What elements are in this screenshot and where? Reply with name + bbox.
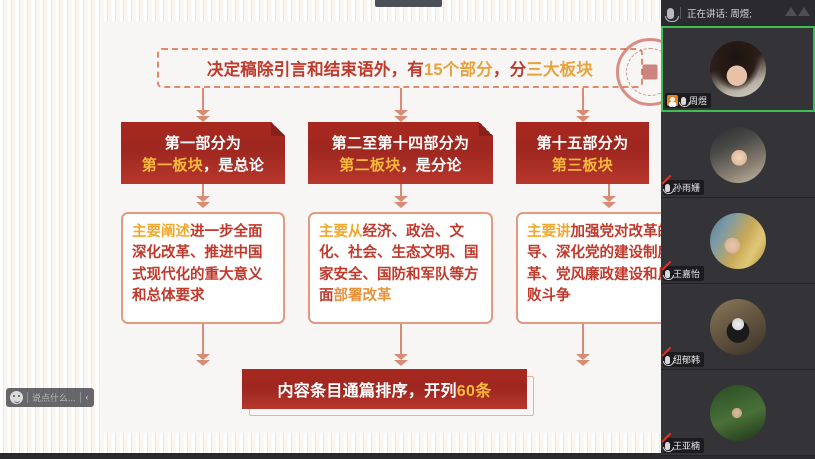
emoji-icon[interactable] [10, 391, 23, 404]
participant-tile[interactable]: 王亚楠 [661, 370, 815, 456]
folded-corner-icon [271, 122, 285, 136]
presentation-slide: 决定稿除引言和结束语外，有15个部分，分三大板块 第一部分为 第一板块，是总论 [101, 21, 661, 433]
meeting-toolbar-handle[interactable] [375, 0, 442, 7]
summary-text-number: 60条 [457, 383, 492, 400]
detail-box-2[interactable]: 主要从经济、政治、文化、社会、生态文明、国家安全、国防和军队等方面部署改革 [308, 212, 493, 324]
detail-box-1-text: 主要阐述进一步全面深化改革、推进中国式现代化的重大意义和总体要求 [132, 222, 275, 308]
block-box-1-tail: ，是总论 [203, 157, 264, 174]
avatar [710, 299, 766, 355]
participants-panel[interactable]: 正在讲话: 周煜; 周煜 孙雨姗 王嘉怡 [661, 0, 815, 459]
microphone-muted-icon [665, 184, 670, 192]
block-box-3-line1: 第十五部分为 [537, 132, 629, 153]
avatar [710, 41, 766, 97]
detail-box-3[interactable]: 主要讲加强党对改革的领导、深化党的建设制度改革、党风廉政建设和反腐败斗争 [516, 212, 661, 324]
app-root: 决定稿除引言和结束语外，有15个部分，分三大板块 第一部分为 第一板块，是总论 [0, 0, 815, 459]
block-box-2-line1: 第二至第十四部分为 [332, 132, 470, 153]
chat-input-bar[interactable]: 说点什么... ‹ [6, 388, 94, 407]
block-box-1[interactable]: 第一部分为 第一板块，是总论 [121, 122, 285, 184]
participant-name: 周煜 [689, 94, 707, 107]
block-box-3[interactable]: 第十五部分为 第三板块 [516, 122, 649, 184]
block-box-2-line2: 第二板块，是分论 [339, 154, 461, 175]
block-boxes-row: 第一部分为 第一板块，是总论 第二至第十四部分为 第二板块，是分论 第十五部分为… [121, 122, 649, 184]
host-icon [667, 95, 678, 106]
divider [27, 392, 28, 403]
slide-header-text: 决定稿除引言和结束语外，有15个部分，分三大板块 [207, 56, 593, 80]
summary-banner-text: 内容条目通篇排序，开列60条 [277, 377, 491, 401]
divider [680, 7, 681, 19]
slide-header-banner: 决定稿除引言和结束语外，有15个部分，分三大板块 [157, 48, 643, 88]
detail-box-1-lead: 主要阐述 [132, 224, 190, 240]
microphone-muted-icon [665, 356, 670, 364]
detail-box-3-lead: 主要讲 [527, 224, 571, 240]
shared-screen-stage[interactable]: 决定稿除引言和结束语外，有15个部分，分三大板块 第一部分为 第一板块，是总论 [0, 0, 661, 453]
detail-box-2-tail: 部署改革 [334, 288, 392, 304]
detail-box-2-lead: 主要从 [319, 224, 363, 240]
participant-tile[interactable]: 周煜 [661, 26, 815, 112]
block-box-1-line1: 第一部分为 [165, 132, 242, 153]
summary-banner[interactable]: 内容条目通篇排序，开列60条 [242, 369, 527, 409]
divider [80, 392, 81, 403]
block-box-2-tail: ，是分论 [401, 157, 462, 174]
participant-tile[interactable]: 孙雨姗 [661, 112, 815, 198]
microphone-muted-icon [665, 442, 670, 450]
block-box-2[interactable]: 第二至第十四部分为 第二板块，是分论 [308, 122, 493, 184]
participant-tile[interactable]: 王嘉怡 [661, 198, 815, 284]
participant-name: 孙雨姗 [673, 181, 700, 194]
block-box-3-highlight: 第三板块 [552, 157, 613, 174]
participant-name-chip: 王嘉怡 [663, 266, 704, 281]
block-box-1-highlight: 第一板块 [142, 157, 203, 174]
avatar [710, 385, 766, 441]
participant-name: 王嘉怡 [673, 267, 700, 280]
participant-name-chip: 孙雨姗 [663, 180, 704, 195]
detail-box-2-text: 主要从经济、政治、文化、社会、生态文明、国家安全、国防和军队等方面部署改革 [319, 222, 483, 308]
participants-panel-header: 正在讲话: 周煜; [661, 0, 815, 26]
participant-name-chip: 纽郁韩 [663, 352, 704, 367]
block-box-2-highlight: 第二板块 [339, 157, 400, 174]
header-highlight-three-blocks: 三大板块 [526, 61, 593, 79]
participant-name: 王亚楠 [673, 439, 700, 452]
block-box-1-line2: 第一板块，是总论 [142, 154, 264, 175]
detail-boxes-row: 主要阐述进一步全面深化改革、推进中国式现代化的重大意义和总体要求 主要从经济、政… [121, 212, 649, 324]
avatar [710, 213, 766, 269]
active-speaker-label: 正在讲话: 周煜; [687, 6, 752, 20]
detail-box-1[interactable]: 主要阐述进一步全面深化改革、推进中国式现代化的重大意义和总体要求 [121, 212, 285, 324]
header-part-3: ，分 [493, 61, 526, 79]
chevron-left-icon[interactable]: ‹ [85, 393, 90, 402]
participant-name: 纽郁韩 [673, 353, 700, 366]
avatar [710, 127, 766, 183]
header-highlight-15-parts: 15个部分 [424, 61, 493, 79]
participant-name-chip: 周煜 [665, 93, 711, 108]
microphone-icon [667, 8, 674, 19]
participant-name-chip: 王亚楠 [663, 438, 704, 453]
double-chevron-collapse-icon[interactable] [785, 7, 810, 16]
chat-input-placeholder[interactable]: 说点什么... [32, 391, 76, 404]
detail-box-3-text: 主要讲加强党对改革的领导、深化党的建设制度改革、党风廉政建设和反腐败斗争 [527, 222, 661, 308]
block-box-3-line2: 第三板块 [552, 154, 613, 175]
microphone-icon [681, 97, 686, 105]
folded-corner-icon [479, 122, 493, 136]
header-part-1: 决定稿除引言和结束语外，有 [207, 61, 424, 79]
summary-banner-wrap: 内容条目通篇排序，开列60条 [242, 369, 534, 416]
microphone-muted-icon [665, 270, 670, 278]
participant-tile[interactable]: 纽郁韩 [661, 284, 815, 370]
summary-text-main: 内容条目通篇排序，开列 [277, 383, 456, 400]
